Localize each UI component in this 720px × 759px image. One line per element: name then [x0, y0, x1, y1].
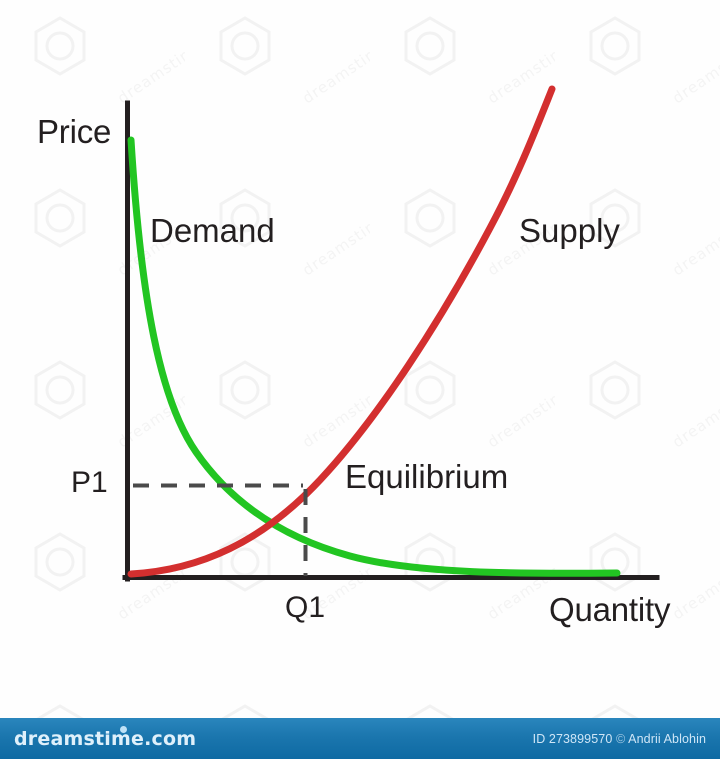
dreamstime-logo-text: dreamstime.com: [14, 728, 196, 750]
chart-canvas: dreamstime Price Quantity Demand Supply …: [0, 0, 720, 759]
stock-site-footer-bar: dreamstime.com ID 273899570 © Andrii Abl…: [0, 718, 720, 759]
footer-credit: ID 273899570 © Andrii Ablohin: [533, 732, 706, 746]
dreamstime-logo[interactable]: dreamstime.com: [14, 728, 196, 750]
x-axis-label-quantity: Quantity: [549, 591, 670, 629]
author-name: Andrii Ablohin: [628, 732, 706, 746]
supply-curve: [131, 89, 552, 574]
logo-dot-icon: [120, 726, 127, 733]
equilibrium-label: Equilibrium: [345, 458, 508, 496]
demand-curve: [131, 140, 617, 573]
copyright-icon: ©: [616, 732, 625, 746]
demand-curve-label: Demand: [150, 212, 275, 250]
x-axis-tick-q1: Q1: [285, 591, 325, 625]
y-axis-tick-p1: P1: [71, 466, 108, 500]
y-axis-label-price: Price: [37, 113, 111, 151]
image-id: ID 273899570: [533, 732, 613, 746]
supply-curve-label: Supply: [519, 212, 620, 250]
